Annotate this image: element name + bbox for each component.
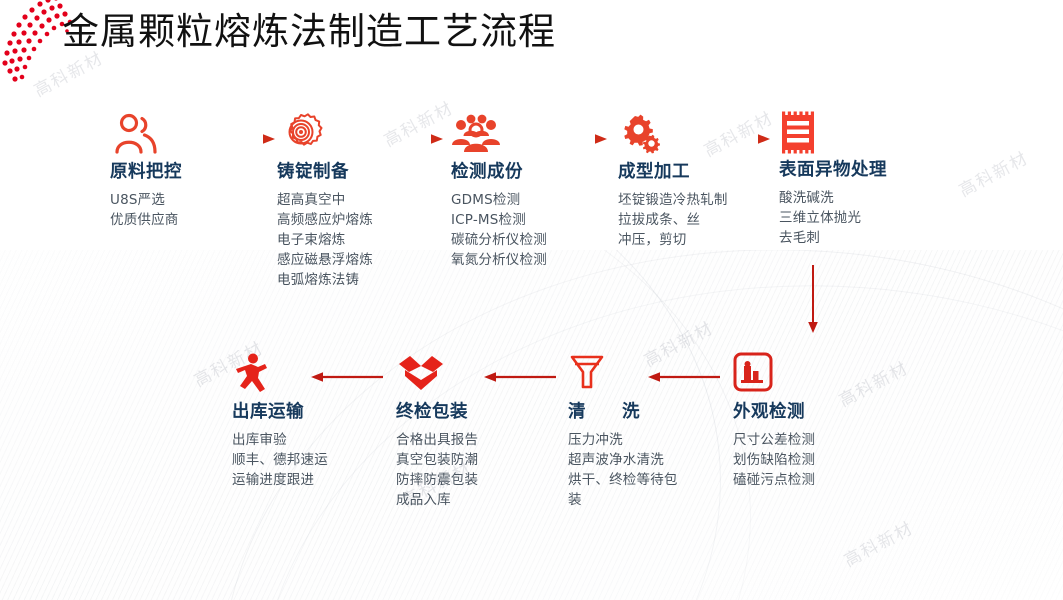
list-item: 酸洗碱洗 bbox=[779, 188, 949, 208]
list-item: 坯锭锻造冷热轧制 bbox=[618, 190, 788, 210]
list-item: 感应磁悬浮熔炼 bbox=[277, 250, 447, 270]
list-item: 拉拔成条、丝 bbox=[618, 210, 788, 230]
step-title: 终检包装 bbox=[396, 398, 566, 423]
list-item: 运输进度跟进 bbox=[232, 470, 402, 490]
arrow-7-to-8 bbox=[482, 370, 556, 384]
list-item: U8S严选 bbox=[110, 190, 280, 210]
step-title: 出库运输 bbox=[232, 398, 402, 423]
list-item: 超声波净水清洗 bbox=[568, 450, 686, 470]
step-detail-list: GDMS检测 ICP-MS检测 碳硫分析仪检测 氧氮分析仪检测 bbox=[451, 190, 621, 270]
step-title: 表面异物处理 bbox=[779, 156, 949, 181]
step-title: 检测成份 bbox=[451, 158, 621, 183]
list-item: 合格出具报告 bbox=[396, 430, 566, 450]
arrow-8-to-9 bbox=[309, 370, 383, 384]
arrow-1-to-2 bbox=[205, 132, 277, 146]
list-item: 防摔防震包装 bbox=[396, 470, 566, 490]
arrow-5-down-to-6 bbox=[805, 265, 821, 335]
step-title: 成型加工 bbox=[618, 158, 788, 183]
list-item: ICP-MS检测 bbox=[451, 210, 621, 230]
list-item: 高频感应炉熔炼 bbox=[277, 210, 447, 230]
list-item: 烘干、终检等待包装 bbox=[568, 470, 686, 510]
watermark: 高科新材 bbox=[839, 514, 918, 572]
list-item: 三维立体抛光 bbox=[779, 208, 949, 228]
list-item: 顺丰、德邦速运 bbox=[232, 450, 402, 470]
step-title: 原料把控 bbox=[110, 158, 280, 183]
flow-step-surface-treatment[interactable]: 表面异物处理 酸洗碱洗 三维立体抛光 去毛刺 bbox=[779, 110, 949, 248]
list-item: 划伤缺陷检测 bbox=[733, 450, 903, 470]
microscope-box-icon bbox=[733, 352, 903, 398]
list-item: 去毛刺 bbox=[779, 228, 949, 248]
list-item: 真空包装防潮 bbox=[396, 450, 566, 470]
step-detail-list: 尺寸公差检测 划伤缺陷检测 磕碰污点检测 bbox=[733, 430, 903, 490]
list-item: 氧氮分析仪检测 bbox=[451, 250, 621, 270]
step-detail-list: 压力冲洗 超声波净水清洗 烘干、终检等待包装 bbox=[568, 430, 738, 510]
list-item: 优质供应商 bbox=[110, 210, 280, 230]
slide-canvas: 高科新材 高科新材 高科新材 高科新材 高科新材 高科新材 高科新材 高科新材 … bbox=[0, 0, 1063, 600]
document-lines-icon bbox=[779, 110, 949, 156]
list-item: 尺寸公差检测 bbox=[733, 430, 903, 450]
arrow-6-to-7 bbox=[646, 370, 720, 384]
step-detail-list: 超高真空中 高频感应炉熔炼 电子束熔炼 感应磁悬浮熔炼 电弧熔炼法铸 bbox=[277, 190, 447, 290]
step-detail-list: 酸洗碱洗 三维立体抛光 去毛刺 bbox=[779, 188, 949, 248]
step-detail-list: 坯锭锻造冷热轧制 拉拔成条、丝 冲压，剪切 bbox=[618, 190, 788, 250]
list-item: 压力冲洗 bbox=[568, 430, 686, 450]
flow-step-raw-material-control[interactable]: 原料把控 U8S严选 优质供应商 bbox=[110, 112, 280, 230]
step-detail-list: U8S严选 优质供应商 bbox=[110, 190, 280, 230]
list-item: 冲压，剪切 bbox=[618, 230, 788, 250]
list-item: 出库审验 bbox=[232, 430, 402, 450]
background-white-fade bbox=[0, 0, 1063, 600]
watermark: 高科新材 bbox=[954, 144, 1033, 202]
step-detail-list: 出库审验 顺丰、德邦速运 运输进度跟进 bbox=[232, 430, 402, 490]
list-item: GDMS检测 bbox=[451, 190, 621, 210]
page-title: 金属颗粒熔炼法制造工艺流程 bbox=[62, 6, 556, 58]
step-detail-list: 合格出具报告 真空包装防潮 防摔防震包装 成品入库 bbox=[396, 430, 566, 510]
step-title: 清 洗 bbox=[568, 398, 738, 423]
step-title: 铸锭制备 bbox=[277, 158, 447, 183]
arrow-2-to-3 bbox=[373, 132, 445, 146]
arrow-3-to-4 bbox=[537, 132, 609, 146]
flow-step-appearance-inspection[interactable]: 外观检测 尺寸公差检测 划伤缺陷检测 磕碰污点检测 bbox=[733, 352, 903, 490]
background-decoration: 高科新材 高科新材 高科新材 高科新材 高科新材 高科新材 高科新材 高科新材 … bbox=[0, 0, 1063, 600]
arrow-4-to-5 bbox=[700, 132, 772, 146]
list-item: 电子束熔炼 bbox=[277, 230, 447, 250]
list-item: 超高真空中 bbox=[277, 190, 447, 210]
list-item: 电弧熔炼法铸 bbox=[277, 270, 447, 290]
step-title: 外观检测 bbox=[733, 398, 903, 423]
list-item: 磕碰污点检测 bbox=[733, 470, 903, 490]
diagonal-hatch-pattern bbox=[0, 0, 1063, 600]
list-item: 碳硫分析仪检测 bbox=[451, 230, 621, 250]
list-item: 成品入库 bbox=[396, 490, 566, 510]
